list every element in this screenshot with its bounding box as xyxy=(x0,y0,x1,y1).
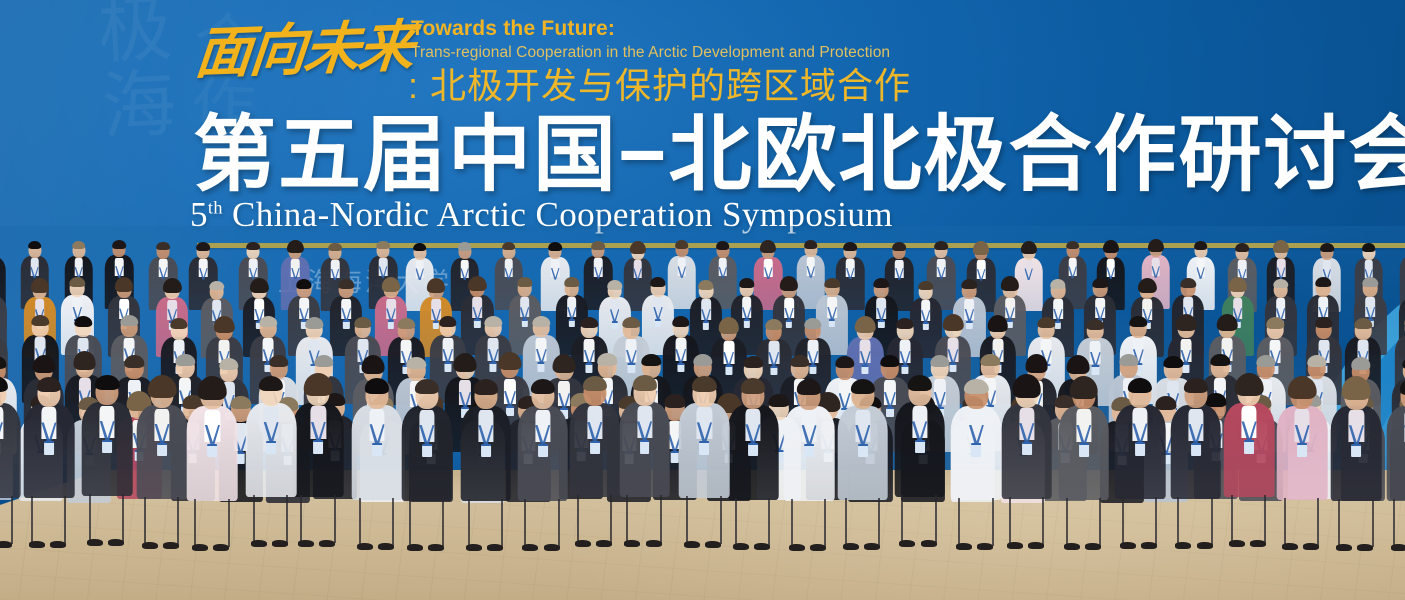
delegate-hair xyxy=(1087,319,1104,330)
delegate-name-badge xyxy=(313,440,323,453)
delegate-hair xyxy=(692,376,716,391)
chair-leg xyxy=(626,495,628,543)
delegate-hair xyxy=(780,276,798,291)
delegate-shoe xyxy=(319,540,335,547)
delegate-hair xyxy=(1038,317,1055,328)
delegate-hair xyxy=(328,243,342,252)
delegate-figure xyxy=(679,359,730,498)
photo-banner-stage: 极海 合作 面向未来 Towards the Future: Trans-reg… xyxy=(0,0,1405,600)
delegate-figure xyxy=(1170,361,1221,500)
chair-leg xyxy=(177,497,179,545)
delegate-hair xyxy=(376,241,390,250)
chair-leg xyxy=(901,495,903,543)
chair-leg xyxy=(334,495,336,543)
delegate-shoe xyxy=(1336,544,1352,551)
delegate-shoe xyxy=(789,544,805,551)
chair-leg xyxy=(409,499,411,547)
delegate-name-badge xyxy=(590,441,600,454)
delegate-hair xyxy=(973,241,989,254)
delegate-hair xyxy=(1148,239,1164,252)
delegate-shoe xyxy=(544,544,560,551)
delegate-hair xyxy=(30,278,48,293)
delegate-figure xyxy=(352,361,403,500)
chair-leg xyxy=(442,499,444,547)
delegate-shoe xyxy=(575,540,591,547)
chair-leg xyxy=(1231,495,1233,543)
delegate-shoe xyxy=(1357,544,1373,551)
delegate-hair xyxy=(760,240,776,253)
delegate-hair xyxy=(1012,374,1041,397)
delegate-shoe xyxy=(298,540,314,547)
delegate-shoe xyxy=(1028,542,1044,549)
delegate-shoe xyxy=(1229,540,1245,547)
delegate-hair xyxy=(718,317,739,334)
delegate-hair xyxy=(502,242,516,251)
delegate-hair xyxy=(765,319,782,330)
chair-leg xyxy=(558,499,560,547)
chair-leg xyxy=(501,499,503,547)
chair-leg xyxy=(359,498,361,546)
delegate-name-badge xyxy=(915,440,925,453)
delegate-figure xyxy=(728,361,779,500)
delegate-hair xyxy=(1103,240,1119,253)
delegate-hair xyxy=(843,242,857,251)
delegate-hair xyxy=(1273,240,1289,253)
chair-leg xyxy=(992,498,994,546)
chair-leg xyxy=(1155,497,1157,545)
chair-leg xyxy=(1284,498,1286,546)
delegate-hair xyxy=(37,377,61,392)
delegate-shoe xyxy=(428,544,444,551)
delegate-shoe xyxy=(142,542,158,549)
delegate-name-badge xyxy=(481,444,491,457)
delegate-hair xyxy=(1194,241,1208,250)
delegate-shoe xyxy=(624,540,640,547)
delegate-hair xyxy=(121,315,138,326)
delegate-figure xyxy=(187,362,238,501)
delegate-shoe xyxy=(487,544,503,551)
delegate-figure xyxy=(1115,361,1166,500)
delegate-hair xyxy=(398,318,415,329)
delegate-shoe xyxy=(0,541,12,548)
delegate-hair xyxy=(1092,278,1107,288)
delegate-name-badge xyxy=(804,444,814,457)
delegate-torso xyxy=(0,403,21,498)
chair-leg xyxy=(392,498,394,546)
delegate-hair xyxy=(246,242,260,251)
delegate-figure xyxy=(24,360,75,499)
delegate-hair xyxy=(672,316,689,327)
delegate-hair xyxy=(28,241,42,250)
chair-leg xyxy=(1066,498,1068,546)
delegate-hair xyxy=(197,242,211,251)
delegate-hair xyxy=(1128,378,1152,393)
delegate-hair xyxy=(632,375,656,390)
delegate-name-badge xyxy=(1022,442,1032,455)
delegate-hair xyxy=(564,277,579,287)
delegate-hair xyxy=(804,318,821,329)
delegate-hair xyxy=(214,316,235,333)
delegate-hair xyxy=(629,241,645,254)
chair-leg xyxy=(735,498,737,546)
chair-leg xyxy=(1338,499,1340,547)
delegate-hair xyxy=(413,243,427,252)
delegate-shoe xyxy=(596,540,612,547)
delegate-shoe xyxy=(1282,543,1298,550)
delegate-figure xyxy=(838,362,889,501)
chair-leg xyxy=(524,499,526,547)
delegate-hair xyxy=(1066,241,1080,250)
delegate-hair xyxy=(533,316,550,327)
delegate-figure xyxy=(951,362,1002,501)
chair-leg xyxy=(300,495,302,543)
delegate-crowd xyxy=(0,0,1405,600)
delegate-shoe xyxy=(754,543,770,550)
chair-leg xyxy=(845,498,847,546)
delegate-shoe xyxy=(646,540,662,547)
delegate-hair xyxy=(804,240,818,249)
delegate-shoe xyxy=(1250,540,1266,547)
chair-leg xyxy=(11,496,13,544)
delegate-hair xyxy=(1316,277,1331,287)
delegate-figure xyxy=(569,359,620,498)
delegate-hair xyxy=(517,277,532,287)
delegate-shoe xyxy=(956,543,972,550)
delegate-hair xyxy=(1235,243,1249,252)
delegate-hair xyxy=(581,317,598,328)
delegate-figure xyxy=(293,359,344,498)
delegate-hair xyxy=(439,316,456,327)
delegate-shoe xyxy=(466,544,482,551)
delegate-shoe xyxy=(899,540,915,547)
delegate-hair xyxy=(893,242,907,251)
delegate-name-badge xyxy=(1135,442,1145,455)
delegate-name-badge xyxy=(207,444,217,457)
chair-leg xyxy=(1393,499,1395,547)
chair-leg xyxy=(1122,497,1124,545)
delegate-shoe xyxy=(378,543,394,550)
delegate-hair xyxy=(198,376,227,399)
chair-leg xyxy=(768,498,770,546)
delegate-hair xyxy=(156,242,170,251)
delegate-shoe xyxy=(1120,542,1136,549)
delegate-figure xyxy=(137,361,188,500)
delegate-figure xyxy=(1277,362,1328,501)
chair-leg xyxy=(1317,498,1319,546)
delegate-shoe xyxy=(921,540,937,547)
delegate-hair xyxy=(675,240,689,249)
delegate-name-badge xyxy=(102,440,112,453)
delegate-shoe xyxy=(843,543,859,550)
delegate-hair xyxy=(1228,277,1246,292)
chair-leg xyxy=(720,496,722,544)
delegate-hair xyxy=(115,277,133,292)
chair-leg xyxy=(878,498,880,546)
delegate-figure xyxy=(402,362,453,501)
delegate-hair xyxy=(1050,279,1065,289)
delegate-hair xyxy=(1138,278,1156,293)
delegate-figure xyxy=(619,358,670,497)
chair-leg xyxy=(286,495,288,543)
delegate-shoe xyxy=(1391,544,1405,551)
chair-leg xyxy=(144,497,146,545)
delegate-name-badge xyxy=(699,441,709,454)
delegate-hair xyxy=(296,279,311,289)
delegate-hair xyxy=(474,379,498,394)
delegate-hair xyxy=(339,279,354,289)
delegate-torso xyxy=(1386,406,1405,501)
delegate-hair xyxy=(1342,376,1371,399)
delegate-hair xyxy=(209,281,224,291)
delegate-name-badge xyxy=(538,444,548,457)
delegate-hair xyxy=(32,315,49,326)
delegate-shoe xyxy=(1303,543,1319,550)
delegate-hair xyxy=(607,280,622,290)
delegate-hair xyxy=(650,277,665,287)
delegate-figure xyxy=(461,362,512,501)
delegate-hair xyxy=(170,318,187,329)
chair-leg xyxy=(1211,497,1213,545)
delegate-hair xyxy=(962,279,977,289)
delegate-hair xyxy=(163,278,181,293)
delegate-name-badge xyxy=(372,443,382,456)
delegate-hair xyxy=(964,379,988,394)
delegate-hair xyxy=(1320,243,1334,252)
delegate-hair xyxy=(415,379,439,394)
chair-leg xyxy=(824,499,826,547)
delegate-shoe xyxy=(163,542,179,549)
delegate-name-badge xyxy=(1297,443,1307,456)
chair-leg xyxy=(122,494,124,542)
chair-leg xyxy=(686,496,688,544)
delegate-hair xyxy=(354,317,371,328)
delegate-shoe xyxy=(810,544,826,551)
delegate-figure xyxy=(894,358,945,497)
delegate-hair xyxy=(855,316,876,333)
delegate-hair xyxy=(1070,376,1099,399)
chair-leg xyxy=(1264,495,1266,543)
delegate-name-badge xyxy=(971,443,981,456)
delegate-figure xyxy=(82,358,133,497)
chair-leg xyxy=(1042,497,1044,545)
delegate-hair xyxy=(988,315,1009,332)
delegate-hair xyxy=(716,241,730,250)
delegate-hair xyxy=(287,240,303,253)
delegate-hair xyxy=(72,241,86,250)
delegate-hair xyxy=(1235,373,1264,396)
delegate-name-badge xyxy=(1352,444,1362,457)
delegate-hair xyxy=(583,376,607,391)
delegate-figure xyxy=(0,359,21,498)
chair-leg xyxy=(958,498,960,546)
delegate-hair xyxy=(95,375,119,390)
chair-leg xyxy=(610,495,612,543)
delegate-hair xyxy=(1176,314,1197,331)
chair-leg xyxy=(1099,498,1101,546)
delegate-hair xyxy=(1180,278,1195,288)
delegate-hair xyxy=(306,317,323,328)
delegate-shoe xyxy=(29,541,45,548)
chair-leg xyxy=(89,494,91,542)
delegate-shoe xyxy=(864,543,880,550)
delegate-shoe xyxy=(50,541,66,548)
delegate-shoe xyxy=(251,540,267,547)
delegate-hair xyxy=(468,276,486,291)
delegate-figure xyxy=(517,362,568,501)
delegate-hair xyxy=(1021,241,1037,254)
delegate-hair xyxy=(259,316,276,327)
delegate-name-badge xyxy=(748,443,758,456)
crowd-row-1-front xyxy=(0,418,1405,600)
delegate-name-badge xyxy=(1079,443,1089,456)
delegate-hair xyxy=(1273,279,1288,289)
delegate-hair xyxy=(623,317,640,328)
delegate-hair xyxy=(741,378,765,393)
delegate-hair xyxy=(304,373,333,396)
delegate-hair xyxy=(1354,318,1371,329)
delegate-hair xyxy=(259,376,283,391)
delegate-hair xyxy=(148,375,177,398)
delegate-name-badge xyxy=(858,444,868,457)
delegate-hair xyxy=(908,375,932,390)
chair-leg xyxy=(935,495,937,543)
delegate-hair xyxy=(1184,378,1208,393)
delegate-figure xyxy=(1331,362,1382,501)
delegate-shoe xyxy=(1064,543,1080,550)
delegate-hair xyxy=(365,378,389,393)
delegate-hair xyxy=(531,379,555,394)
delegate-hair xyxy=(1267,317,1284,328)
delegate-shoe xyxy=(977,543,993,550)
delegate-hair xyxy=(943,314,964,331)
delegate-hair xyxy=(1001,276,1019,291)
chair-leg xyxy=(1177,497,1179,545)
delegate-name-badge xyxy=(157,443,167,456)
chair-leg xyxy=(253,495,255,543)
delegate-shoe xyxy=(213,544,229,551)
chair-leg xyxy=(194,499,196,547)
delegate-hair xyxy=(739,278,754,288)
delegate-shoe xyxy=(705,541,721,548)
delegate-hair xyxy=(896,318,913,329)
chair-leg xyxy=(228,499,230,547)
delegate-name-badge xyxy=(44,441,54,454)
delegate-hair xyxy=(1315,317,1332,328)
delegate-hair xyxy=(250,278,268,293)
delegate-hair xyxy=(382,277,400,292)
delegate-hair xyxy=(1130,316,1147,327)
delegate-hair xyxy=(427,278,445,293)
delegate-hair xyxy=(1400,379,1405,394)
delegate-shoe xyxy=(192,544,208,551)
delegate-shoe xyxy=(684,541,700,548)
delegate-hair xyxy=(548,242,562,251)
chair-leg xyxy=(31,496,33,544)
delegate-hair xyxy=(918,281,933,291)
delegate-name-badge xyxy=(422,444,432,457)
delegate-name-badge xyxy=(266,441,276,454)
chair-leg xyxy=(791,499,793,547)
delegate-figure xyxy=(1224,359,1275,498)
chair-leg xyxy=(468,499,470,547)
delegate-hair xyxy=(458,242,472,251)
chair-leg xyxy=(577,495,579,543)
delegate-figure xyxy=(246,359,297,498)
delegate-shoe xyxy=(407,544,423,551)
chair-leg xyxy=(1009,497,1011,545)
delegate-shoe xyxy=(1141,542,1157,549)
delegate-shoe xyxy=(357,543,373,550)
chair-leg xyxy=(660,495,662,543)
delegate-shoe xyxy=(87,539,103,546)
delegate-name-badge xyxy=(1244,440,1254,453)
delegate-shoe xyxy=(1085,543,1101,550)
chair-leg xyxy=(1372,499,1374,547)
delegate-shoe xyxy=(522,544,538,551)
delegate-figure xyxy=(1386,362,1405,501)
delegate-figure xyxy=(1059,362,1110,501)
delegate-hair xyxy=(1288,376,1317,399)
delegate-hair xyxy=(75,316,92,327)
delegate-figure xyxy=(1001,360,1052,499)
delegate-hair xyxy=(1217,314,1238,331)
delegate-shoe xyxy=(733,543,749,550)
delegate-name-badge xyxy=(640,440,650,453)
delegate-hair xyxy=(824,278,839,288)
delegate-hair xyxy=(485,316,502,327)
delegate-hair xyxy=(592,241,606,250)
delegate-figure xyxy=(784,362,835,501)
delegate-hair xyxy=(113,240,127,249)
delegate-hair xyxy=(698,280,713,290)
delegate-hair xyxy=(934,241,948,250)
delegate-shoe xyxy=(1197,542,1213,549)
chair-leg xyxy=(64,496,66,544)
delegate-shoe xyxy=(108,539,124,546)
delegate-shoe xyxy=(1175,542,1191,549)
delegate-hair xyxy=(1362,243,1376,252)
delegate-hair xyxy=(1363,277,1378,287)
delegate-name-badge xyxy=(1191,443,1201,456)
delegate-hair xyxy=(70,277,85,287)
delegate-hair xyxy=(874,278,889,288)
delegate-shoe xyxy=(1007,542,1023,549)
delegate-hair xyxy=(851,379,875,394)
delegate-shoe xyxy=(272,540,288,547)
delegate-hair xyxy=(797,379,821,394)
